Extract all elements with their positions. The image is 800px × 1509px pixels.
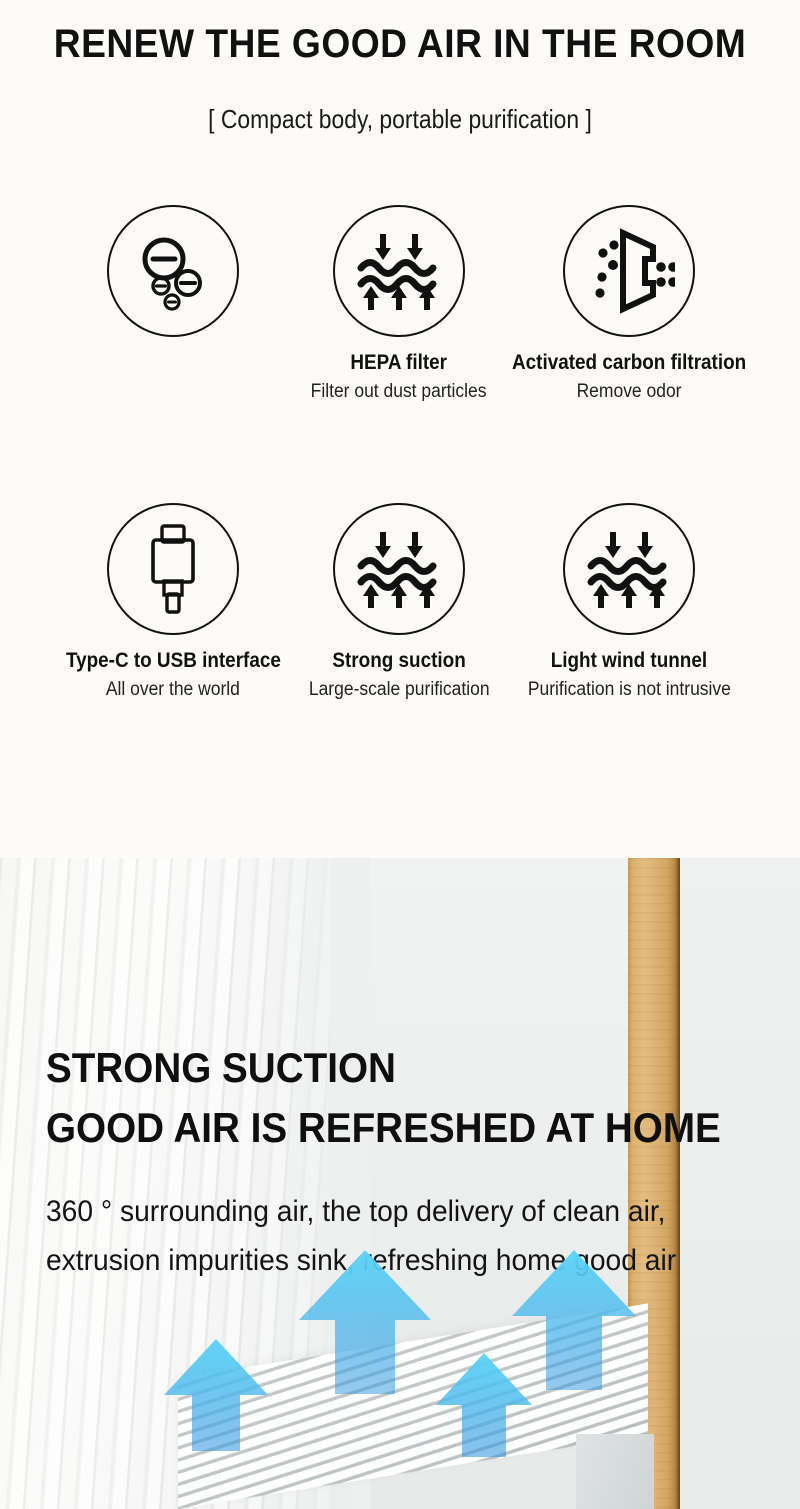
carbon-filter-dots-icon — [563, 205, 695, 337]
feature-item-activated-carbon: Activated carbon filtration Remove odor — [496, 205, 762, 404]
feature-title: Type-C to USB interface — [66, 649, 281, 673]
page-subtitle: [ Compact body, portable purification ] — [48, 104, 752, 135]
usb-type-c-icon — [107, 503, 239, 635]
feature-desc: Purification is not intrusive — [527, 678, 730, 702]
feature-desc: All over the world — [106, 678, 240, 702]
page-title: RENEW THE GOOD AIR IN THE ROOM — [28, 22, 772, 67]
feature-title: Light wind tunnel — [551, 649, 707, 673]
feature-desc: Remove odor — [577, 380, 682, 404]
headline-line-1: STRONG SUCTION — [46, 1038, 727, 1098]
negative-ion-icon — [107, 205, 239, 337]
feature-desc: Large-scale purification — [309, 678, 490, 702]
feature-title: HEPA filter — [351, 351, 448, 375]
lifestyle-photo-section: STRONG SUCTION GOOD AIR IS REFRESHED AT … — [0, 858, 800, 1509]
airflow-wave-icon — [333, 205, 465, 337]
feature-item-hepa-filter: HEPA filter Filter out dust particles — [266, 205, 532, 404]
headline-line-2: GOOD AIR IS REFRESHED AT HOME — [46, 1098, 727, 1158]
feature-row-1: HEPA filter Filter out dust particles — [0, 205, 800, 495]
feature-row-2: Type-C to USB interface All over the wor… — [0, 503, 800, 803]
features-section: RENEW THE GOOD AIR IN THE ROOM [ Compact… — [0, 0, 800, 858]
room-wall-right — [680, 858, 800, 1509]
airflow-arrow-icon — [295, 1246, 435, 1396]
feature-title: Strong suction — [332, 649, 465, 673]
airflow-wave-icon — [333, 503, 465, 635]
feature-desc: Filter out dust particles — [311, 380, 487, 404]
feature-title: Activated carbon filtration — [512, 351, 746, 375]
airflow-arrow-icon — [160, 1335, 272, 1453]
photo-headline: STRONG SUCTION GOOD AIR IS REFRESHED AT … — [46, 1038, 727, 1159]
purifier-side-panel — [576, 1434, 654, 1509]
airflow-arrow-icon — [508, 1246, 640, 1392]
airflow-wave-icon — [563, 503, 695, 635]
feature-item-light-wind-tunnel: Light wind tunnel Purification is not in… — [496, 503, 762, 702]
feature-item-strong-suction: Strong suction Large-scale purification — [266, 503, 532, 702]
